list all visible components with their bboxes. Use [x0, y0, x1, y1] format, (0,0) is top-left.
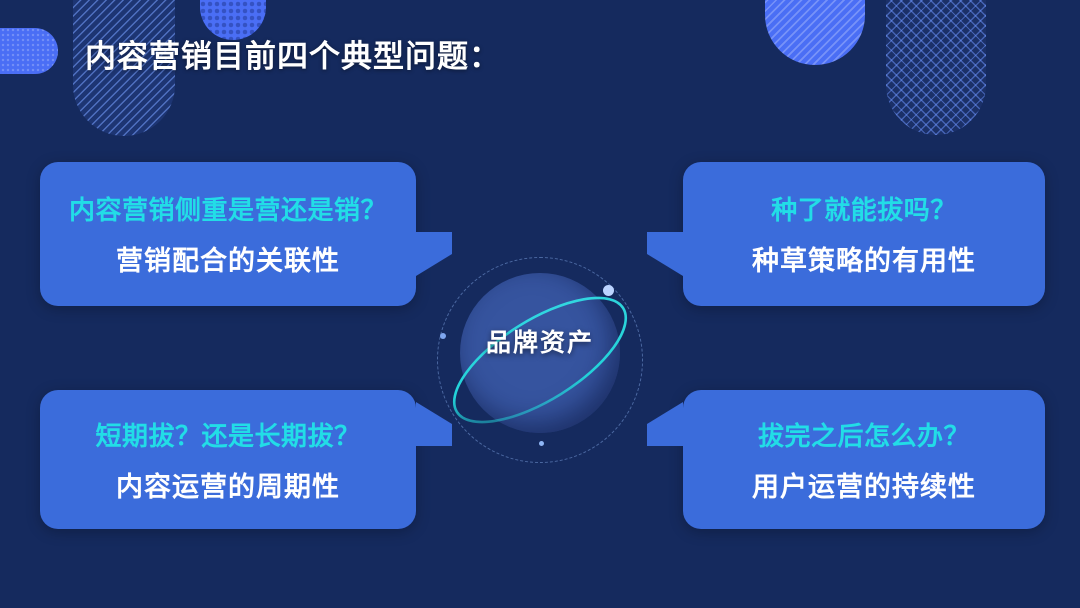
globe-orbit-icon	[429, 249, 651, 471]
question-text: 短期拔？还是长期拔？	[95, 416, 360, 453]
decor-dotted-pill	[0, 28, 58, 74]
slide-title: 内容营销目前四个典型问题：	[85, 31, 501, 76]
question-text: 内容营销侧重是营还是销？	[69, 190, 387, 227]
central-globe: 品牌资产	[443, 263, 637, 457]
answer-text: 种草策略的有用性	[752, 239, 976, 278]
answer-text: 用户运营的持续性	[752, 465, 976, 504]
answer-text: 营销配合的关联性	[116, 239, 340, 278]
question-card-top-right[interactable]: 种了就能拔吗？ 种草策略的有用性	[683, 162, 1045, 306]
globe-label: 品牌资产	[443, 323, 637, 359]
question-card-top-left[interactable]: 内容营销侧重是营还是销？ 营销配合的关联性	[40, 162, 416, 306]
decor-striped-column-right	[765, 0, 865, 65]
question-card-bottom-right[interactable]: 拔完之后怎么办？ 用户运营的持续性	[683, 390, 1045, 529]
decor-crosshatch-column	[886, 0, 986, 135]
question-text: 种了就能拔吗？	[771, 190, 957, 227]
speech-tail-icon	[647, 402, 683, 446]
speech-tail-icon	[647, 232, 683, 276]
question-card-bottom-left[interactable]: 短期拔？还是长期拔？ 内容运营的周期性	[40, 390, 416, 529]
answer-text: 内容运营的周期性	[116, 465, 340, 504]
question-text: 拔完之后怎么办？	[758, 416, 970, 453]
